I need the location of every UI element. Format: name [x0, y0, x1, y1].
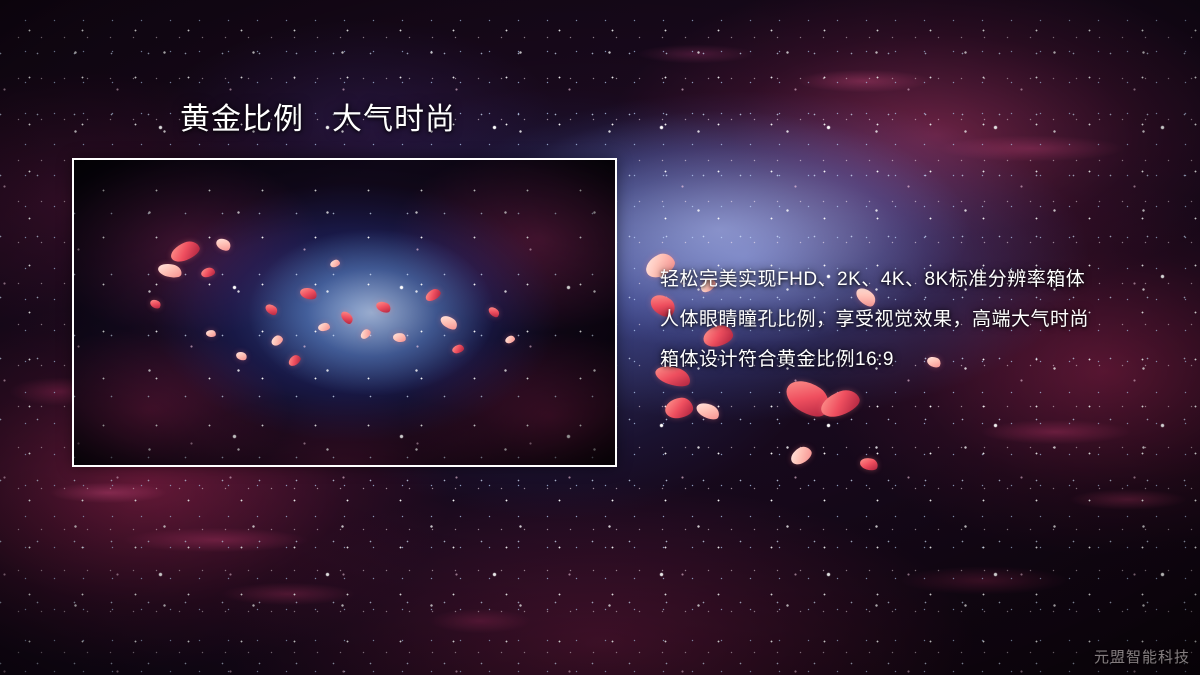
brand-watermark: 元盟智能科技 [1094, 646, 1190, 667]
description-line-3: 箱体设计符合黄金比例16:9 [660, 340, 1160, 380]
description-block: 轻松完美实现FHD、2K、4K、8K标准分辨率箱体 人体眼睛瞳孔比例，享受视觉效… [660, 260, 1160, 380]
description-line-1: 轻松完美实现FHD、2K、4K、8K标准分辨率箱体 [660, 260, 1160, 300]
led-cabinet-preview-frame [72, 158, 617, 467]
page-title: 黄金比例 大气时尚 [180, 101, 456, 139]
slide-canvas: 黄金比例 大气时尚 轻松完美实现FHD、2K、4K、8K标准分辨率箱体 人体眼睛… [0, 0, 1200, 675]
description-line-2: 人体眼睛瞳孔比例，享受视觉效果，高端大气时尚 [660, 300, 1160, 340]
